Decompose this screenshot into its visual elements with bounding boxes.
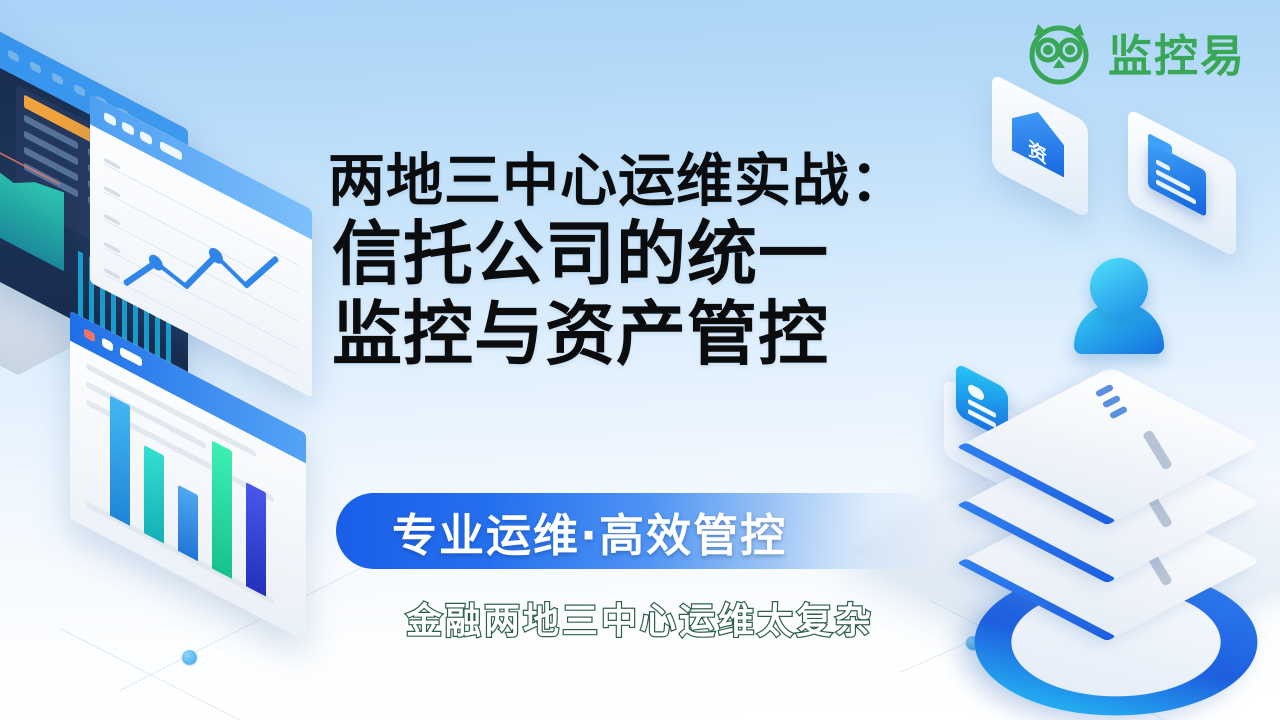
brand-logo[interactable]: 监控易 (1022, 18, 1246, 86)
chart-bar (212, 440, 232, 578)
title-line-2: 信托公司的统一 (332, 214, 968, 294)
poster-canvas: 资 (0, 0, 1280, 720)
tagline-badge-label: 专业运维·高效管控 (392, 499, 787, 564)
chart-bar (246, 482, 266, 596)
subtitle-caption: 金融两地三中心运维太复杂 (0, 592, 1280, 644)
chart-bar (144, 445, 164, 543)
server-led (1109, 406, 1128, 420)
user-avatar-head (1090, 258, 1148, 316)
chart-bar (110, 395, 130, 525)
server-slot (1142, 429, 1173, 470)
brand-name: 监控易 (1108, 20, 1246, 84)
tagline-badge: 专业运维·高效管控 (336, 493, 940, 569)
server-led (1102, 395, 1121, 409)
title-line-1: 两地三中心运维实战： (328, 148, 968, 214)
title-line-3: 监控与资产管控 (332, 294, 968, 374)
chart-bar (178, 485, 198, 561)
owl-icon (1022, 18, 1096, 86)
left-dashboard-illustration (0, 34, 308, 674)
server-led (1095, 384, 1114, 398)
page-title: 两地三中心运维实战： 信托公司的统一 监控与资产管控 (328, 148, 968, 374)
